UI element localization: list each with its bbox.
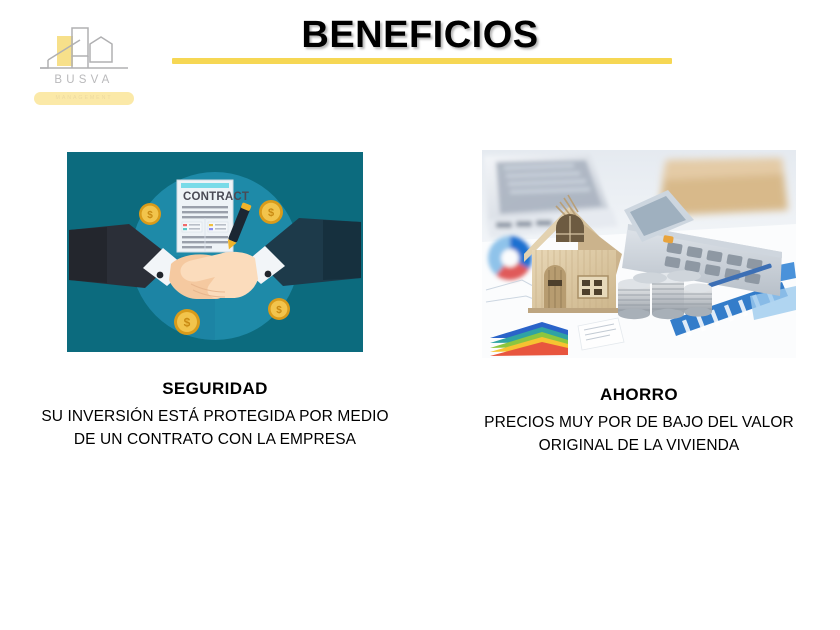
- logo-wordmark: BUSVA: [28, 74, 140, 86]
- logo-tagline-pill: MANAGEMENT: [34, 92, 134, 105]
- caption-title: SEGURIDAD: [28, 378, 402, 400]
- benefit-column-ahorro: AHORRO PRECIOS MUY POR DE BAJO DEL VALOR…: [452, 150, 826, 457]
- page-title: BENEFICIOS: [0, 14, 840, 57]
- svg-text:$: $: [276, 305, 282, 316]
- svg-text:$: $: [184, 315, 191, 329]
- handshake-contract-illustration: CONTRACT: [67, 152, 363, 352]
- svg-text:$: $: [268, 207, 274, 219]
- caption-body: PRECIOS MUY POR DE BAJO DEL VALOR ORIGIN…: [452, 411, 826, 457]
- benefit-column-seguridad: CONTRACT: [28, 150, 402, 451]
- benefit-caption-ahorro: AHORRO PRECIOS MUY POR DE BAJO DEL VALOR…: [452, 384, 826, 457]
- title-underline-rule: [172, 58, 672, 64]
- logo-tagline: MANAGEMENT: [34, 92, 134, 105]
- caption-body: SU INVERSIÓN ESTÁ PROTEGIDA POR MEDIO DE…: [28, 405, 402, 451]
- benefit-caption-seguridad: SEGURIDAD SU INVERSIÓN ESTÁ PROTEGIDA PO…: [28, 378, 402, 451]
- slide-canvas: BUSVA MANAGEMENT BENEFICIOS CONTRACT: [0, 0, 840, 630]
- svg-text:CONTRACT: CONTRACT: [183, 191, 249, 203]
- house-model-coins-calculator-photo: [482, 150, 796, 358]
- caption-title: AHORRO: [452, 384, 826, 406]
- svg-text:$: $: [147, 210, 153, 221]
